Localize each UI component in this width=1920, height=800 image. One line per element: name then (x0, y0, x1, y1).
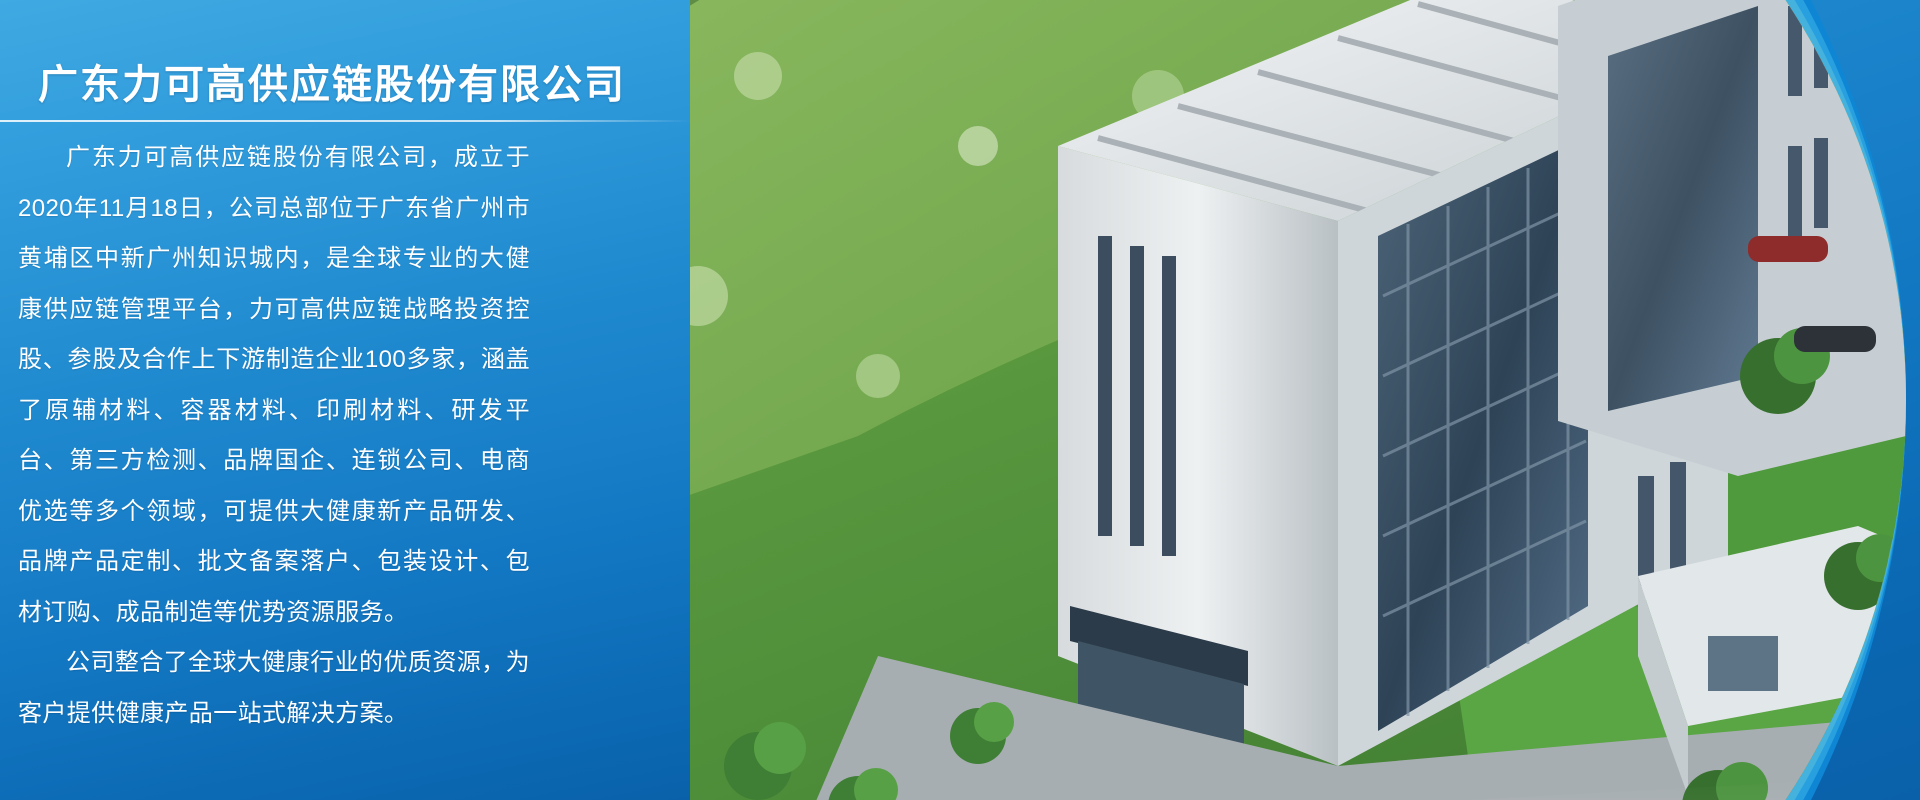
page-title: 广东力可高供应链股份有限公司 (38, 52, 626, 110)
paragraph-1: 广东力可高供应链股份有限公司，成立于2020年11月18日，公司总部位于广东省广… (18, 133, 530, 638)
text-column: 广东力可高供应链股份有限公司 广东力可高供应链股份有限公司，成立于2020年11… (0, 0, 700, 800)
company-profile-banner: 广东力可高供应链股份有限公司 广东力可高供应链股份有限公司，成立于2020年11… (0, 0, 1920, 800)
company-description: 广东力可高供应链股份有限公司，成立于2020年11月18日，公司总部位于广东省广… (18, 133, 530, 739)
title-divider (0, 120, 692, 122)
paragraph-2: 公司整合了全球大健康行业的优质资源，为客户提供健康产品一站式解决方案。 (18, 638, 530, 739)
